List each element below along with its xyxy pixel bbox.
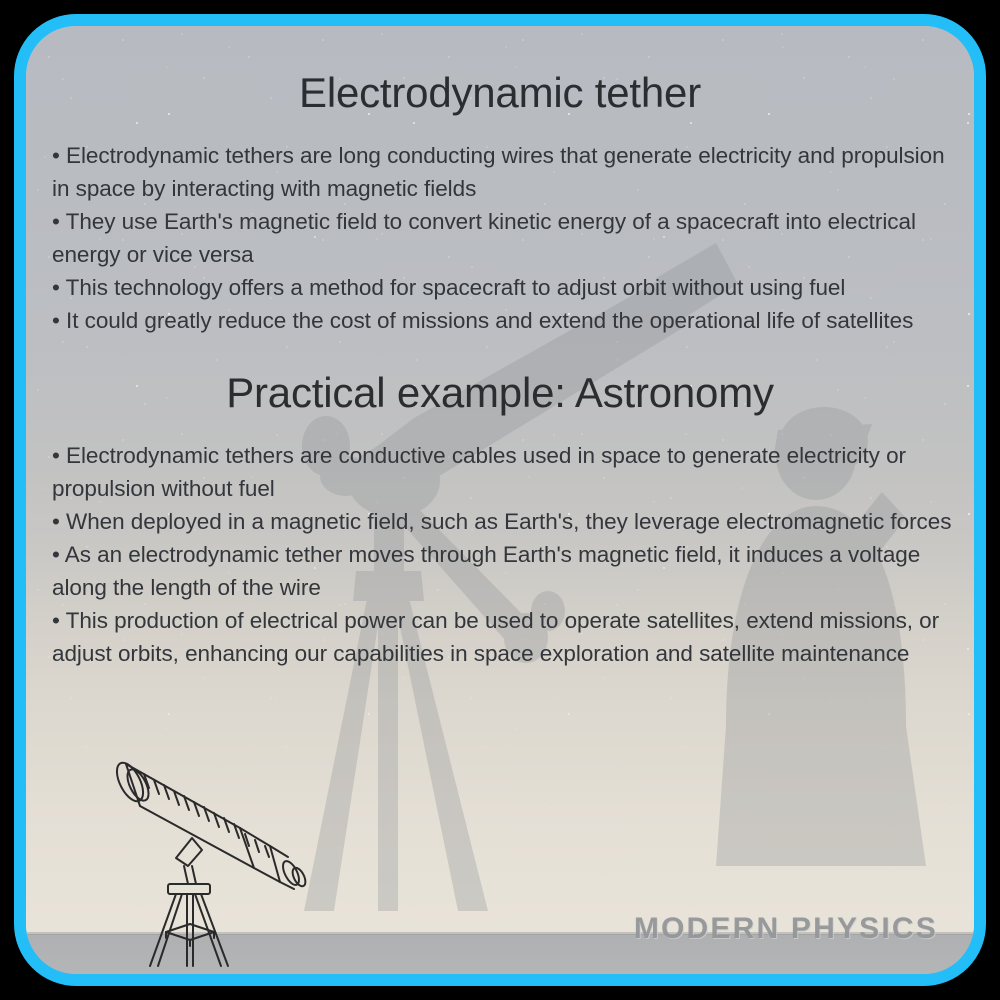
page-title: Electrodynamic tether — [26, 70, 974, 116]
slide-frame-border: Electrodynamic tether • Electrodynamic t… — [14, 14, 986, 986]
list-item: • It could greatly reduce the cost of mi… — [52, 304, 952, 337]
list-item: • Electrodynamic tethers are long conduc… — [52, 139, 952, 205]
list-item: • This technology offers a method for sp… — [52, 271, 952, 304]
section-heading-practical-example: Practical example: Astronomy — [26, 370, 974, 416]
example-bullet-list: • Electrodynamic tethers are conductive … — [52, 439, 952, 670]
list-item: • Electrodynamic tethers are conductive … — [52, 439, 952, 505]
list-item: • When deployed in a magnetic field, suc… — [52, 505, 952, 538]
slide-content: Electrodynamic tether • Electrodynamic t… — [26, 26, 974, 974]
list-item: • As an electrodynamic tether moves thro… — [52, 538, 952, 604]
list-item: • This production of electrical power ca… — [52, 604, 952, 670]
slide-canvas: Electrodynamic tether • Electrodynamic t… — [0, 0, 1000, 1000]
watermark-label: MODERN PHYSICS — [634, 912, 938, 946]
list-item: • They use Earth's magnetic field to con… — [52, 205, 952, 271]
main-bullet-list: • Electrodynamic tethers are long conduc… — [52, 139, 952, 337]
